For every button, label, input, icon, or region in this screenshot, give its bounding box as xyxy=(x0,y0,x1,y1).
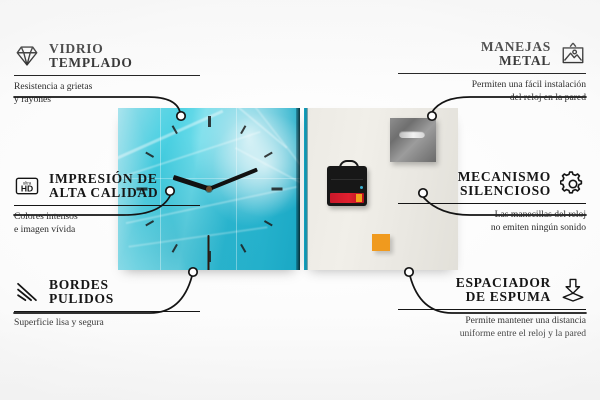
clock-tick xyxy=(172,244,178,253)
feature-manejas-metal: MANEJAS METAL Permiten una fácil instala… xyxy=(398,40,586,105)
picture-frame-hanging-icon xyxy=(560,41,586,67)
minute-hand xyxy=(208,168,258,191)
feature-divider xyxy=(398,203,586,205)
feature-desc-line2: y rayones xyxy=(14,94,200,107)
feature-divider xyxy=(398,73,586,75)
gear-icon xyxy=(560,171,586,197)
feature-title-line2: PULIDOS xyxy=(49,292,114,306)
feature-bordes-pulidos: BORDES PULIDOS Superficie lisa y segura xyxy=(14,278,200,330)
polished-edges-icon xyxy=(14,279,40,305)
movement-seam xyxy=(331,179,363,180)
clock-center-cap xyxy=(206,186,212,192)
clock-tick xyxy=(264,220,273,226)
feature-desc-line1: Las manecillas del reloj xyxy=(398,209,586,222)
feature-title-line1: ESPACIADOR xyxy=(456,276,551,290)
infographic-canvas: VIDRIO TEMPLADO Resistencia a grietas y … xyxy=(0,0,600,400)
feature-desc-line2: del reloj en la pared xyxy=(398,92,586,105)
feature-desc-line1: Permite mantener una distancia xyxy=(398,315,586,328)
quartz-movement xyxy=(327,166,367,206)
feature-desc-line2: e imagen vívida xyxy=(14,224,200,237)
clock-tick xyxy=(264,152,273,158)
feature-title-line2: SILENCIOSO xyxy=(458,184,551,198)
clock-tick xyxy=(172,125,178,134)
feature-title-line2: DE ESPUMA xyxy=(456,290,551,304)
feature-title-line2: ALTA CALIDAD xyxy=(49,186,158,200)
feature-title-line1: VIDRIO xyxy=(49,42,133,56)
feature-mecanismo-silencioso: MECANISMO SILENCIOSO Las manecillas del … xyxy=(398,170,586,235)
feature-desc-line1: Superficie lisa y segura xyxy=(14,317,200,330)
feature-desc-line1: Colores intensos xyxy=(14,211,200,224)
feature-desc-line2: uniforme entre el reloj y la pared xyxy=(398,328,586,341)
feature-desc-line1: Resistencia a grietas xyxy=(14,81,200,94)
feature-title-line2: TEMPLADO xyxy=(49,56,133,70)
clock-tick xyxy=(208,116,211,127)
movement-indicator xyxy=(360,186,363,189)
movement-hanging-loop xyxy=(339,160,359,171)
feature-espaciador-de-espuma: ESPACIADOR DE ESPUMA Permite mantener un… xyxy=(398,276,586,341)
feature-vidrio-templado: VIDRIO TEMPLADO Resistencia a grietas y … xyxy=(14,42,200,107)
battery-terminal xyxy=(356,194,362,202)
feature-impresion-alta-calidad: ultra HD IMPRESIÓN DE ALTA CALIDAD Color… xyxy=(14,172,200,237)
feature-divider xyxy=(14,311,200,313)
feature-divider xyxy=(14,75,200,77)
feature-title-line1: BORDES xyxy=(49,278,114,292)
metal-hanger-plate xyxy=(390,118,436,162)
feature-title-line2: METAL xyxy=(481,54,551,68)
feature-desc-line2: no emiten ningún sonido xyxy=(398,222,586,235)
clock-tick xyxy=(240,244,246,253)
hanger-slot xyxy=(399,131,425,138)
hd-badge-large: HD xyxy=(21,184,33,194)
battery xyxy=(330,193,364,203)
feature-divider xyxy=(14,205,200,207)
feature-desc-line1: Permiten una fácil instalación xyxy=(398,79,586,92)
foam-spacer-square xyxy=(372,234,390,251)
feature-title-line1: MANEJAS xyxy=(481,40,551,54)
clock-tick xyxy=(271,188,282,191)
clock-tick xyxy=(240,125,246,134)
ultra-hd-icon: ultra HD xyxy=(14,173,40,199)
foam-spacer-arrow-icon xyxy=(560,277,586,303)
feature-title-line1: IMPRESIÓN DE xyxy=(49,172,158,186)
diamond-icon xyxy=(14,43,40,69)
feature-divider xyxy=(398,309,586,311)
feature-title-line1: MECANISMO xyxy=(458,170,551,184)
clock-tick xyxy=(145,152,154,158)
